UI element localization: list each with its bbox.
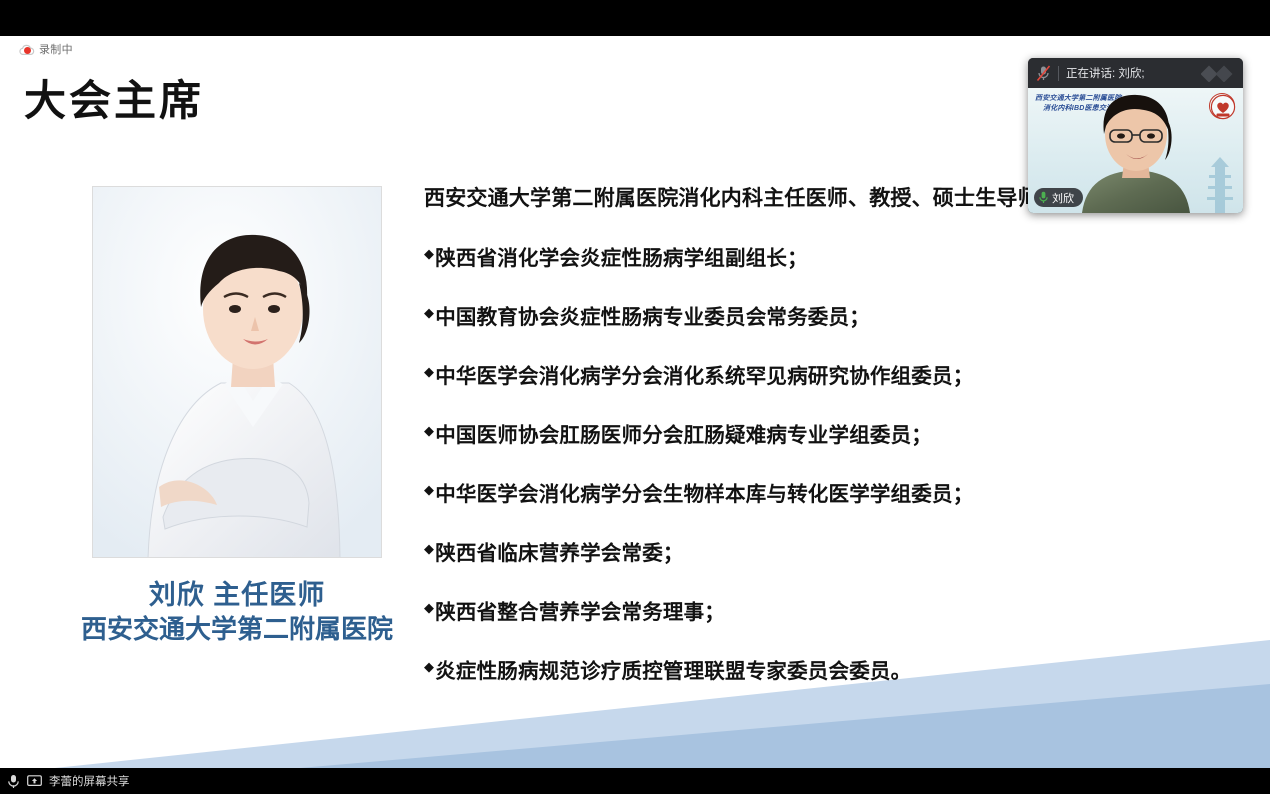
portrait-block: 刘欣 主任医师 西安交通大学第二附属医院	[77, 186, 397, 646]
bullet-icon: ◆	[424, 418, 434, 444]
screen-share-icon[interactable]	[27, 775, 42, 788]
list-item: ◆ 陕西省消化学会炎症性肠病学组副组长；	[424, 241, 1254, 271]
header-divider	[1058, 66, 1059, 81]
list-item-label: 中华医学会消化病学分会生物样本库与转化医学学组委员；	[435, 477, 973, 507]
cloud-record-icon	[18, 43, 35, 55]
portrait-photo	[92, 186, 382, 558]
recording-indicator: 录制中	[18, 40, 73, 58]
portrait-caption-org: 西安交通大学第二附属医院	[77, 613, 397, 646]
portrait-caption-name: 刘欣 主任医师	[77, 578, 397, 613]
view-layout-icon[interactable]	[1201, 64, 1237, 82]
list-item-label: 炎症性肠病规范诊疗质控管理联盟专家委员会委员。	[435, 654, 911, 684]
portrait-illustration	[93, 187, 382, 558]
list-item-label: 中华医学会消化病学分会消化系统罕见病研究协作组委员；	[435, 359, 973, 389]
recording-dot	[24, 47, 31, 54]
credentials-list: 西安交通大学第二附属医院消化内科主任医师、教授、硕士生导师 ◆ 陕西省消化学会炎…	[424, 182, 1254, 713]
list-item: ◆ 中华医学会消化病学分会消化系统罕见病研究协作组委员；	[424, 359, 1254, 389]
speaker-name-badge: 刘欣	[1034, 188, 1083, 207]
letterbox-top	[0, 0, 1270, 36]
bullet-icon: ◆	[424, 595, 434, 621]
list-item-label: 中国教育协会炎症性肠病专业委员会常务委员；	[435, 300, 870, 330]
video-panel-header[interactable]: 正在讲话: 刘欣;	[1028, 58, 1243, 88]
page-title: 大会主席	[24, 80, 204, 122]
bullet-icon: ◆	[424, 654, 434, 680]
list-item: ◆ 陕西省临床营养学会常委；	[424, 536, 1254, 566]
list-item-label: 陕西省整合营养学会常务理事；	[435, 595, 725, 625]
portrait-caption: 刘欣 主任医师 西安交通大学第二附属医院	[77, 578, 397, 646]
bullet-icon: ◆	[424, 536, 434, 562]
hospital-seal-logo	[1209, 93, 1235, 119]
list-item: ◆ 炎症性肠病规范诊疗质控管理联盟专家委员会委员。	[424, 654, 1254, 684]
list-item-label: 陕西省临床营养学会常委；	[435, 536, 683, 566]
active-speaker-label: 正在讲话: 刘欣;	[1066, 65, 1194, 81]
status-bar: 李蕾的屏幕共享	[0, 768, 1270, 794]
bullet-icon: ◆	[424, 359, 434, 385]
bullet-icon: ◆	[424, 241, 434, 267]
bullet-icon: ◆	[424, 477, 434, 503]
microphone-active-icon	[1039, 191, 1048, 204]
list-item: ◆ 中国医师协会肛肠医师分会肛肠疑难病专业学组委员；	[424, 418, 1254, 448]
list-item: ◆ 陕西省整合营养学会常务理事；	[424, 595, 1254, 625]
meeting-screen-share-view: 录制中 大会主席	[0, 0, 1270, 794]
microphone-icon[interactable]	[7, 774, 20, 789]
speaker-name: 刘欣	[1052, 190, 1074, 206]
list-item: ◆ 中国教育协会炎症性肠病专业委员会常务委员；	[424, 300, 1254, 330]
bullet-icon: ◆	[424, 300, 434, 326]
screen-share-label: 李蕾的屏幕共享	[49, 773, 130, 789]
speaker-video-panel[interactable]: 正在讲话: 刘欣; 西安交通大学第二附属医院 消化内科IBD医患交流会	[1028, 58, 1243, 213]
recording-label: 录制中	[39, 41, 73, 57]
microphone-muted-icon[interactable]	[1036, 65, 1051, 82]
list-item-label: 陕西省消化学会炎症性肠病学组副组长；	[435, 241, 808, 271]
speaker-portrait	[1076, 88, 1196, 213]
pagoda-illustration	[1201, 153, 1239, 213]
video-feed[interactable]: 西安交通大学第二附属医院 消化内科IBD医患交流会	[1028, 88, 1243, 213]
list-item: ◆ 中华医学会消化病学分会生物样本库与转化医学学组委员；	[424, 477, 1254, 507]
list-item-label: 中国医师协会肛肠医师分会肛肠疑难病专业学组委员；	[435, 418, 932, 448]
